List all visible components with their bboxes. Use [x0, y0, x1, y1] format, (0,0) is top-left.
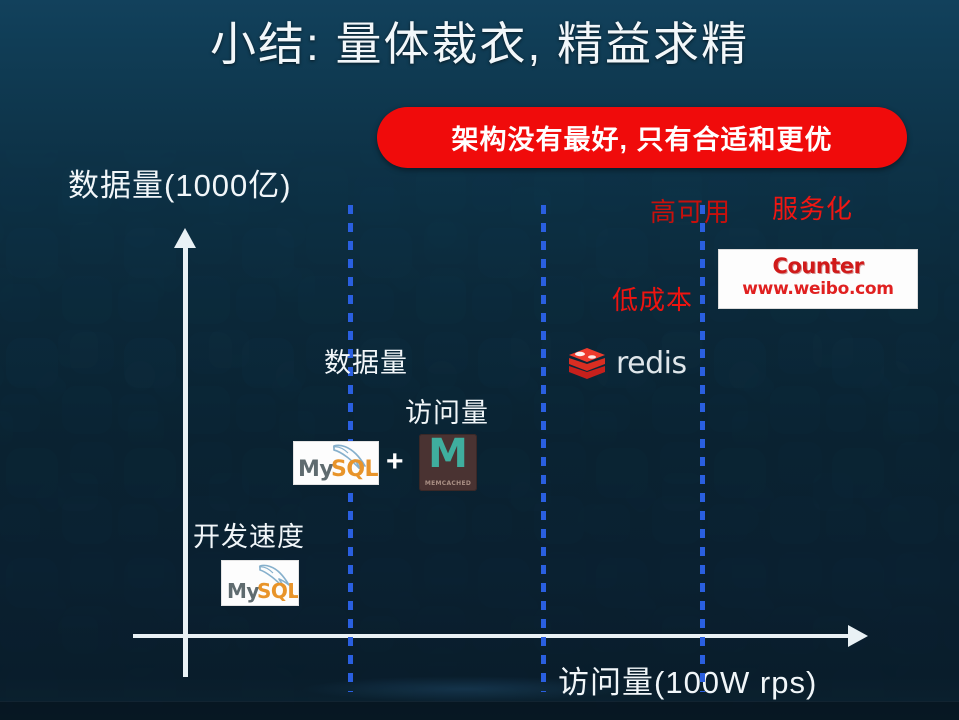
- annotation-low-cost: 低成本: [612, 280, 693, 317]
- mysql-logo-large: My SQL .: [293, 441, 379, 485]
- redis-logo: redis: [566, 344, 691, 388]
- highlight-banner-text: 架构没有最好, 只有合适和更优: [451, 118, 832, 157]
- zone-divider-3: [700, 205, 705, 692]
- slide-canvas: 小结: 量体裁衣, 精益求精 架构没有最好, 只有合适和更优 数据量(1000亿…: [0, 0, 959, 720]
- memcached-letter: M: [419, 434, 477, 476]
- zone-divider-2: [541, 205, 546, 692]
- bottom-band: [0, 701, 959, 720]
- mysql-word-my: My: [298, 457, 333, 482]
- counter-weibo-logo: Counter www.weibo.com: [718, 249, 918, 309]
- counter-url: www.weibo.com: [719, 279, 917, 299]
- redis-wordmark: redis: [616, 346, 687, 381]
- highlight-banner: 架构没有最好, 只有合适和更优: [377, 107, 907, 168]
- memcached-logo: M MEMCACHED: [419, 434, 477, 491]
- x-axis-line: [133, 634, 855, 638]
- mysql-logo-small: My SQL .: [221, 560, 299, 606]
- x-axis-arrow-icon: [848, 625, 868, 647]
- y-axis-line: [183, 245, 188, 677]
- zone-label-data-volume: 数据量: [324, 341, 408, 380]
- zone-label-visit-volume: 访问量: [405, 391, 489, 430]
- mysql-word-dot: .: [288, 579, 295, 603]
- plus-sign: +: [386, 445, 404, 479]
- annotation-high-availability: 高可用: [650, 192, 731, 229]
- y-axis-label: 数据量(1000亿): [68, 160, 292, 205]
- x-axis-label: 访问量(100W rps): [558, 657, 817, 702]
- page-title: 小结: 量体裁衣, 精益求精: [0, 14, 959, 74]
- annotation-servicification: 服务化: [772, 189, 853, 226]
- redis-cube-icon: [566, 346, 608, 386]
- mysql-word-my: My: [227, 579, 259, 603]
- mysql-word-dot: .: [365, 457, 373, 482]
- zone-label-dev-speed: 开发速度: [193, 515, 305, 554]
- memcached-wordmark: MEMCACHED: [419, 480, 477, 487]
- y-axis-arrow-icon: [174, 228, 196, 248]
- counter-title: Counter: [719, 254, 917, 278]
